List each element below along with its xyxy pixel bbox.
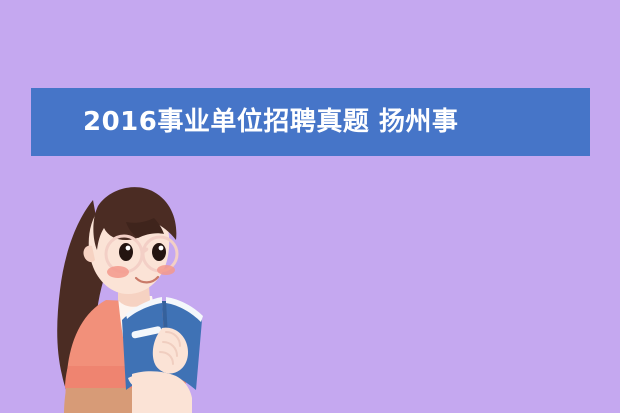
blush-right xyxy=(157,265,175,275)
blush-left xyxy=(107,266,129,278)
page-root: 2016事业单位招聘真题 扬州事 xyxy=(0,0,620,413)
eye-highlight-left xyxy=(126,246,131,251)
eye-highlight-right xyxy=(159,246,164,251)
page-title: 2016事业单位招聘真题 扬州事 xyxy=(83,109,458,135)
eye-right xyxy=(152,243,166,261)
woman-reading-icon xyxy=(20,160,250,413)
woman-reading-illustration xyxy=(20,160,250,413)
eye-left xyxy=(119,243,133,261)
title-banner: 2016事业单位招聘真题 扬州事 xyxy=(31,88,590,156)
